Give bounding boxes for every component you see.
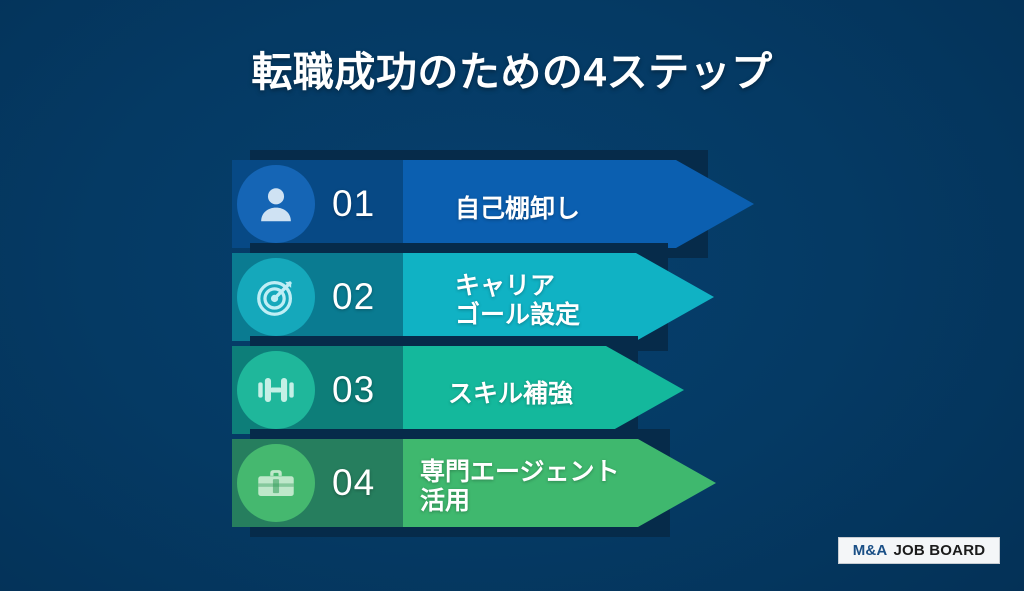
logo-suffix: JOB BOARD <box>893 542 985 559</box>
brand-logo: M&A JOB BOARD <box>838 537 1000 564</box>
step-number: 04 <box>332 464 375 501</box>
logo-prefix: M&A <box>853 542 888 559</box>
briefcase-icon-badge <box>237 444 315 522</box>
steps-container: 01自己棚卸し02キャリア ゴール設定03スキル補強04専門エージェント 活用 <box>0 0 1024 591</box>
step-row[interactable]: 04専門エージェント 活用 <box>0 0 1024 591</box>
step-label: 専門エージェント 活用 <box>420 458 620 516</box>
infographic-canvas: 転職成功のための4ステップ 01自己棚卸し02キャリア ゴール設定03スキル補強… <box>0 0 1024 591</box>
briefcase-icon <box>253 460 299 506</box>
